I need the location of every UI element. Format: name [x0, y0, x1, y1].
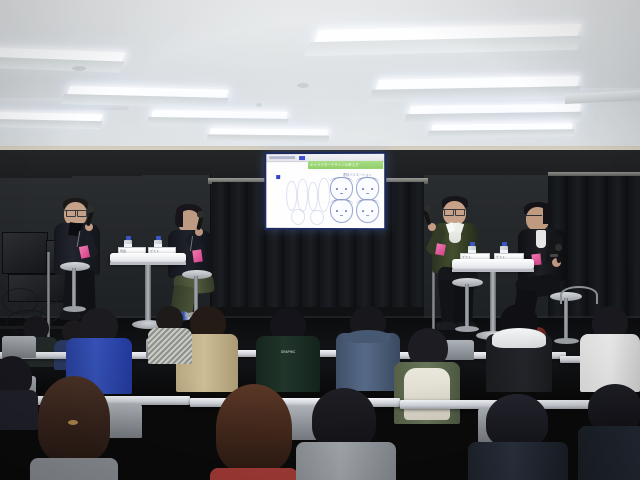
audience-clothing [468, 442, 568, 480]
slide-figure-sketch [318, 178, 330, 212]
name-card-left-text: 司会 [120, 249, 126, 253]
hood [346, 330, 390, 343]
audience-clothing [30, 458, 118, 480]
fluorescent-tube-light [315, 24, 582, 42]
slide-face-eye [345, 188, 348, 190]
fluorescent-tube-light [67, 86, 229, 98]
speaker-3-glasses-lens [444, 209, 454, 216]
slide-face-eye [336, 210, 339, 212]
slide-face-hair [356, 199, 379, 209]
slide-figure-sketch [310, 210, 324, 225]
speaker-4-glasses-icon [526, 215, 542, 220]
speaker-2-hair-side [175, 210, 183, 227]
microphone-head [555, 244, 562, 251]
name-card-right-text: ゲスト [496, 255, 505, 259]
smoke-detector-icon [72, 66, 86, 71]
speaker-2-name-badge [192, 249, 203, 262]
audience-clothing [210, 468, 298, 480]
list-item [206, 384, 302, 480]
ceiling-fixture-plate [573, 88, 640, 102]
slide-figure-sketch [286, 181, 297, 211]
slide-face-grid: 表情バリエーション [330, 173, 380, 221]
list-item [468, 394, 568, 480]
audience-clothing [0, 390, 38, 430]
tshirt-print-text: GRAPHIC [256, 350, 320, 354]
slide-character-face [330, 177, 353, 201]
speaker-3-glasses-lens [455, 209, 465, 216]
slide-figure-sketch [297, 179, 308, 212]
ceiling-speaker-icon [256, 103, 262, 107]
microphone-head [197, 211, 204, 218]
slide-character-face [356, 177, 379, 201]
audience-head [216, 384, 292, 472]
audience-clothing [148, 328, 192, 364]
name-card-right-text: ゲスト [150, 249, 159, 253]
slide-face-eye [345, 210, 348, 212]
slide-tab-marker [299, 156, 305, 160]
slide-face-eye [371, 210, 374, 212]
fluorescent-tube-light [151, 110, 287, 119]
list-item [392, 328, 462, 424]
audience-head [588, 384, 640, 432]
audience-chair [2, 336, 36, 358]
hair-tie [68, 420, 78, 425]
slide-face-mouth [366, 193, 369, 194]
fluorescent-tube-light [0, 47, 126, 61]
speaker-4-wristwatch [550, 254, 558, 257]
microphone-head [87, 206, 94, 213]
slide-header-bar: キャラクターデザインの考え方 [308, 161, 383, 169]
slide-face-mouth [340, 193, 343, 194]
list-item [296, 388, 396, 480]
slide-body: 表情バリエーション [266, 169, 384, 228]
slide-bullet-marker [276, 175, 280, 179]
speaker-3-name-badge [435, 243, 446, 255]
projection-screen: キャラクターデザインの考え方 表情バリエーション [264, 152, 386, 230]
ac-duct [565, 90, 640, 104]
slide-face-eye [371, 188, 374, 190]
flight-case [2, 232, 48, 274]
fluorescent-tube-light [210, 128, 329, 135]
ceiling [0, 0, 640, 152]
slide-figure-sketch [308, 182, 318, 211]
audience-head [312, 388, 376, 450]
audience-head [38, 376, 110, 462]
list-item [148, 306, 192, 362]
list-item [578, 384, 640, 480]
speaker-4-inner-shirt [536, 230, 546, 248]
fluorescent-tube-light [409, 104, 581, 114]
slide-character-face [330, 199, 353, 223]
speaker-1-glasses-lens [77, 210, 87, 217]
slide-character-face [356, 199, 379, 223]
fluorescent-tube-light [376, 76, 580, 89]
hood [492, 328, 546, 348]
presentation-slide: キャラクターデザインの考え方 表情バリエーション [266, 154, 384, 228]
audience-head [486, 394, 548, 448]
smoke-detector-icon [297, 83, 309, 88]
slide-figure-sketch [291, 209, 305, 225]
slide-face-eye [362, 210, 365, 212]
slide-face-mouth [340, 215, 343, 216]
ceiling-fixture-plate [0, 98, 133, 110]
slide-url-bar [269, 156, 295, 159]
audience-clothing [296, 442, 396, 480]
fluorescent-tube-light [0, 112, 103, 121]
audience: GRAPHIC [0, 300, 640, 480]
list-item [580, 306, 640, 390]
slide-face-eye [362, 188, 365, 190]
list-item: GRAPHIC [256, 308, 320, 388]
slide-face-hair [330, 199, 353, 209]
slide-header-text: キャラクターデザインの考え方 [310, 162, 359, 168]
conference-room-photo: キャラクターデザインの考え方 表情バリエーション [0, 0, 640, 480]
audience-clothing [578, 426, 640, 480]
vest [404, 368, 450, 420]
slide-face-hair [356, 176, 379, 186]
slide-face-mouth [366, 215, 369, 216]
list-item [0, 356, 38, 426]
list-item [28, 376, 120, 480]
fluorescent-tube-light [431, 123, 572, 130]
list-item [486, 304, 552, 390]
speaker-4-hair-side [543, 206, 552, 224]
slide-face-hair [330, 176, 353, 186]
speaker-1-glasses-lens [66, 210, 76, 217]
list-item [336, 306, 400, 388]
slide-face-eye [336, 188, 339, 190]
name-card-left-text: ゲスト [462, 255, 471, 259]
microphone-head [424, 205, 431, 212]
